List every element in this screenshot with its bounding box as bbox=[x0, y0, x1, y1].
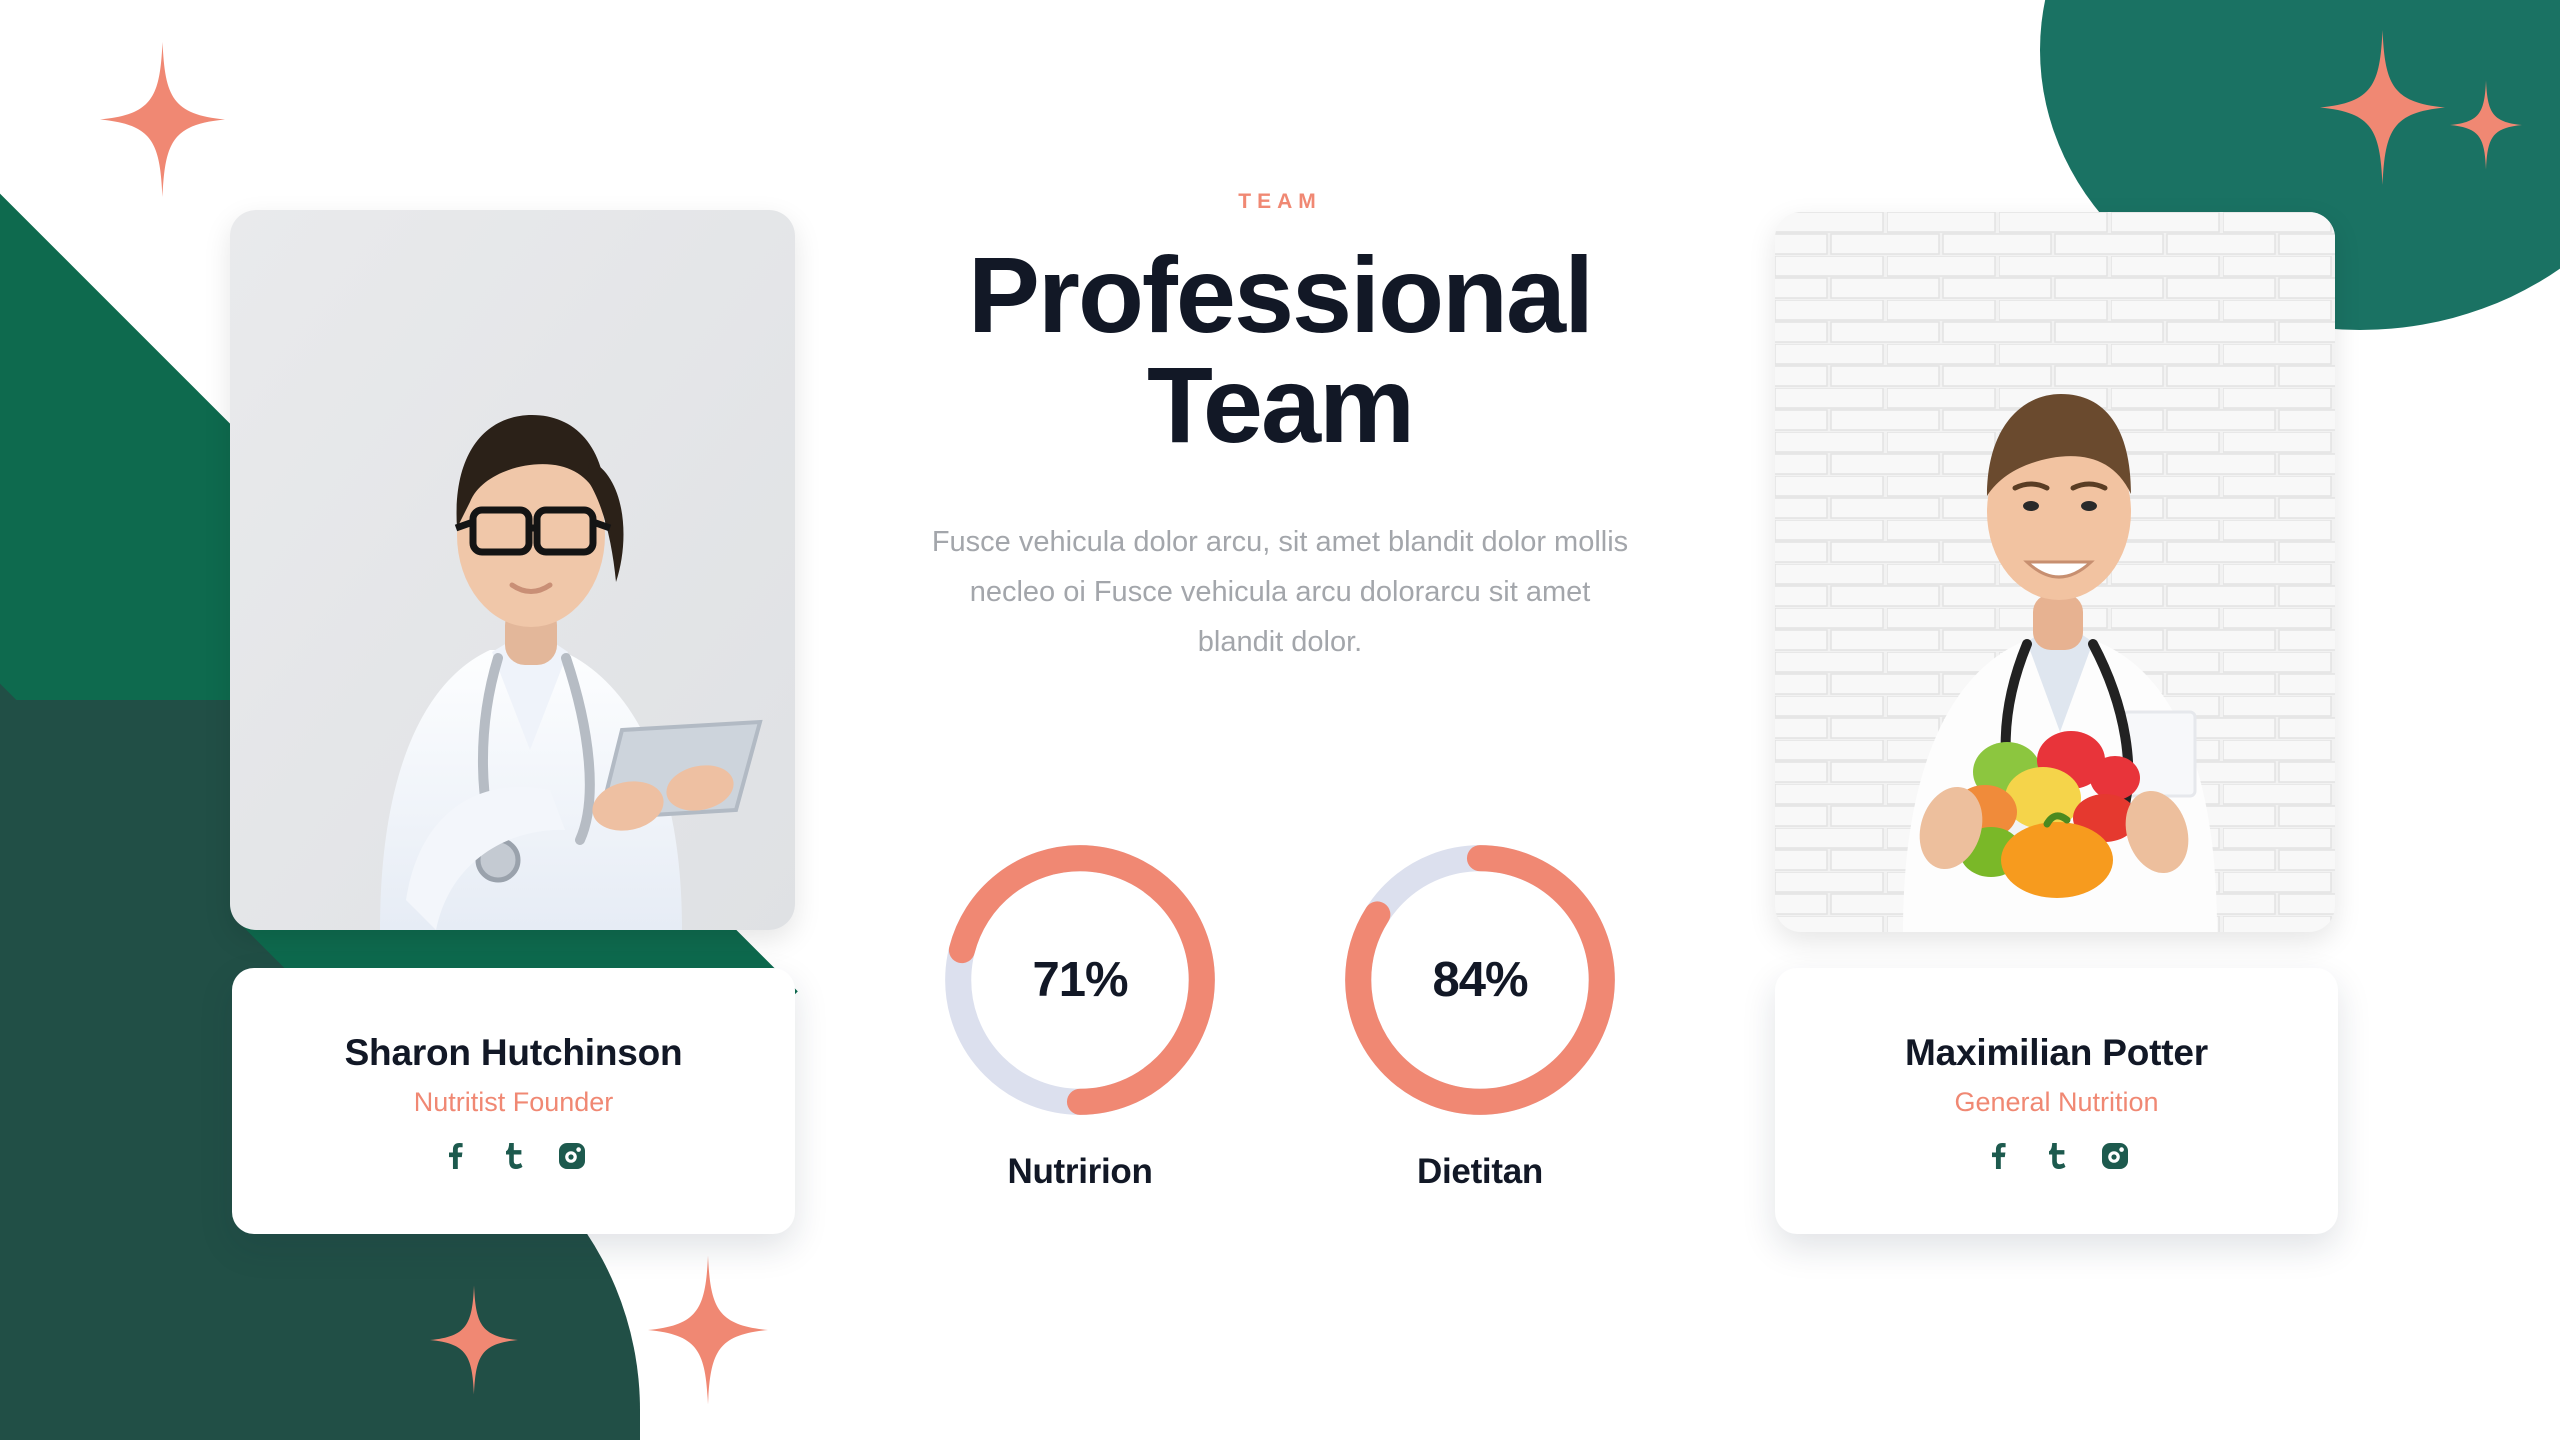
member-photo-image-0 bbox=[230, 210, 795, 930]
stat-ring-1: 84% Dietitan bbox=[1335, 835, 1625, 1192]
ring-label-0: Nutririon bbox=[1007, 1152, 1152, 1192]
facebook-icon[interactable] bbox=[443, 1143, 469, 1169]
twitter-icon[interactable] bbox=[2044, 1143, 2070, 1169]
stat-ring-0: 71% Nutririon bbox=[935, 835, 1225, 1192]
sparkle-top-right-large-icon bbox=[2320, 30, 2445, 185]
page-title: Professional Team bbox=[968, 240, 1592, 460]
green-shape-left bbox=[0, 700, 240, 1440]
member-name-0: Sharon Hutchinson bbox=[345, 1033, 683, 1074]
headline-line-2: Team bbox=[1147, 344, 1413, 465]
instagram-icon[interactable] bbox=[559, 1143, 585, 1169]
ring-graphic-0: 71% bbox=[935, 835, 1225, 1125]
member-photo-1 bbox=[1775, 212, 2335, 932]
facebook-icon[interactable] bbox=[1986, 1143, 2012, 1169]
member-photo-0 bbox=[230, 210, 795, 930]
member-photo-image-1 bbox=[1775, 212, 2335, 932]
stats-rings: 71% Nutririon 84% Dietitan bbox=[900, 835, 1660, 1192]
member-name-1: Maximilian Potter bbox=[1905, 1033, 2208, 1074]
ring-graphic-1: 84% bbox=[1335, 835, 1625, 1125]
headline-line-1: Professional bbox=[968, 234, 1592, 355]
section-header: TEAM Professional Team Fusce vehicula do… bbox=[880, 190, 1680, 668]
sparkle-bottom-center-icon bbox=[648, 1255, 768, 1405]
ring-value-0: 71% bbox=[935, 835, 1225, 1125]
member-role-0: Nutritist Founder bbox=[414, 1088, 614, 1118]
section-paragraph: Fusce vehicula dolor arcu, sit amet blan… bbox=[930, 518, 1630, 668]
ring-value-1: 84% bbox=[1335, 835, 1625, 1125]
sparkle-top-right-small-icon bbox=[2450, 80, 2522, 170]
team-section: Sharon Hutchinson Nutritist Founder TEAM… bbox=[0, 0, 2560, 1440]
member-card-0[interactable]: Sharon Hutchinson Nutritist Founder bbox=[232, 968, 795, 1234]
member-socials-0 bbox=[443, 1143, 585, 1169]
member-card-1[interactable]: Maximilian Potter General Nutrition bbox=[1775, 968, 2338, 1234]
member-role-1: General Nutrition bbox=[1954, 1088, 2158, 1118]
section-eyebrow: TEAM bbox=[1238, 190, 1322, 214]
ring-label-1: Dietitan bbox=[1417, 1152, 1543, 1192]
instagram-icon[interactable] bbox=[2102, 1143, 2128, 1169]
sparkle-bottom-left-icon bbox=[430, 1285, 518, 1395]
member-socials-1 bbox=[1986, 1143, 2128, 1169]
sparkle-top-left-icon bbox=[100, 42, 225, 197]
twitter-icon[interactable] bbox=[501, 1143, 527, 1169]
